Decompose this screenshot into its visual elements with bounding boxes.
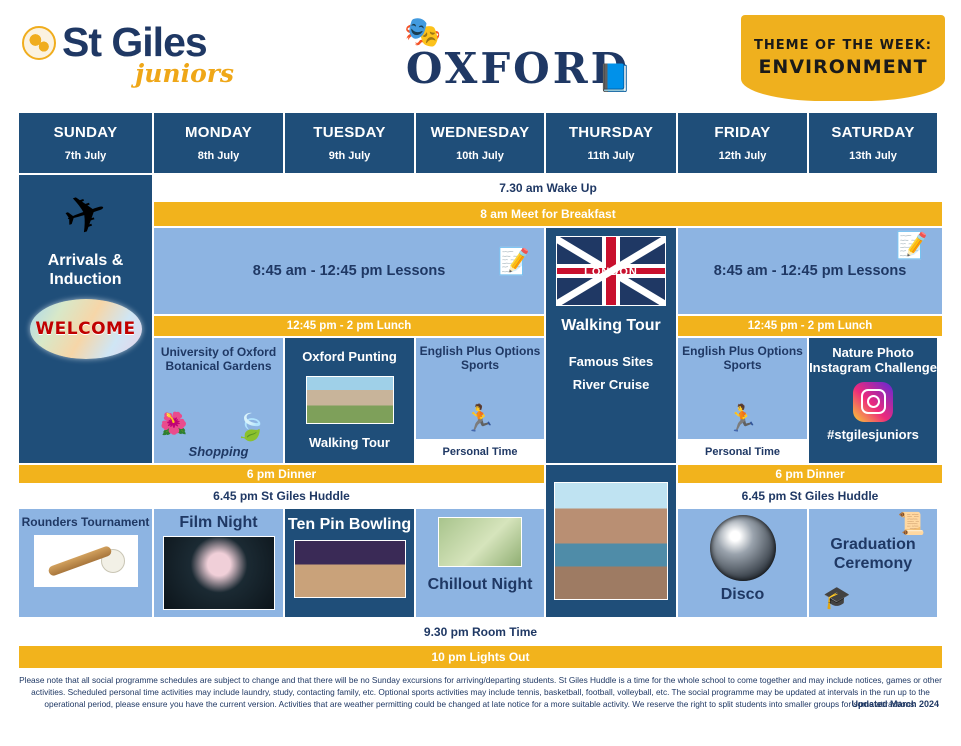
personal-time-friday: Personal Time <box>677 440 808 464</box>
lights-out-row: 10 pm Lights Out <box>18 645 943 669</box>
sunday-title: Arrivals & Induction <box>19 251 152 289</box>
disco-ball-icon <box>710 515 776 581</box>
union-jack-icon: LONDON <box>556 236 666 306</box>
globe-icon <box>22 26 56 60</box>
activity-footer: Personal Time <box>705 446 780 458</box>
lunch-band-fri-sat: 12:45 pm - 2 pm Lunch <box>677 315 943 337</box>
disclaimer-text: Please note that all social programme sc… <box>18 674 943 710</box>
excursion-detail-2: River Cruise <box>573 378 650 393</box>
evening-cell-saturday[interactable]: 📜 Graduation Ceremony 🎓 <box>808 508 938 618</box>
sunday-arrivals-cell[interactable]: ✈ Arrivals & Induction WELCOME <box>18 174 153 464</box>
activity-title: Disco <box>721 585 765 604</box>
evening-block: 6 pm Dinner 6.45 pm St Giles Huddle Roun… <box>18 464 943 618</box>
activity-title: Chillout Night <box>428 575 533 594</box>
instagram-icon <box>853 382 893 422</box>
wake-up-band: 7.30 am Wake Up <box>153 174 943 201</box>
relaxing-frog-photo <box>438 517 522 567</box>
welcome-label: WELCOME <box>35 319 135 339</box>
activity-title: Oxford Punting <box>302 350 397 365</box>
afternoon-cell-friday[interactable]: English Plus Options Sports 🏃 <box>677 337 808 440</box>
activity-footer: #stgilesjuniors <box>827 428 919 443</box>
dinner-band-left: 6 pm Dinner <box>18 464 545 484</box>
afternoon-cell-wednesday[interactable]: English Plus Options Sports 🏃 <box>415 337 545 440</box>
lunch-label: 12:45 pm - 2 pm Lunch <box>748 320 873 332</box>
brand-name: St Giles <box>62 22 207 63</box>
activity-title: University of Oxford Botanical Gardens <box>154 345 283 374</box>
activity-title: Film Night <box>179 513 257 532</box>
theme-of-the-week-banner: THEME OF THE WEEK: ENVIRONMENT <box>741 15 945 101</box>
huddle-label: 6.45 pm St Giles Huddle <box>742 489 879 503</box>
running-figure-icon: 🏃 <box>416 405 544 431</box>
activity-title: Graduation Ceremony <box>809 535 937 573</box>
day-header-friday: FRIDAY 12th July <box>677 112 808 174</box>
huddle-label: 6.45 pm St Giles Huddle <box>213 489 350 503</box>
theme-label: THEME OF THE WEEK: <box>754 38 932 53</box>
st-giles-juniors-logo: St Giles juniors <box>22 22 242 88</box>
day-name: MONDAY <box>185 124 252 141</box>
day-name: SATURDAY <box>831 124 914 141</box>
afternoon-cell-saturday[interactable]: Nature Photo Instagram Challenge #stgile… <box>808 337 938 464</box>
lessons-cell-mon-wed[interactable]: 8:45 am - 12:45 pm Lessons 📝 <box>153 227 545 315</box>
lunch-band-mon-wed: 12:45 pm - 2 pm Lunch <box>153 315 545 337</box>
flowers-icon: 🌺 <box>160 411 187 437</box>
lessons-label: 8:45 am - 12:45 pm Lessons <box>714 263 907 279</box>
timetable-grid: SUNDAY 7th July MONDAY 8th July TUESDAY … <box>18 112 943 669</box>
bowling-alley-photo <box>294 540 406 598</box>
oxford-centre-logo: 🎭 OXFORD 📘 <box>398 18 638 90</box>
notepad-pencil-icon: 📝 <box>896 232 928 258</box>
room-time-row: 9.30 pm Room Time <box>18 618 943 645</box>
theme-value: ENVIRONMENT <box>758 56 927 78</box>
lessons-cell-fri-sat[interactable]: 8:45 am - 12:45 pm Lessons 📝 <box>677 227 943 315</box>
notepad-pencil-icon: 📝 <box>498 248 530 274</box>
leaf-icon: 🍃 <box>235 412 267 443</box>
day-name: FRIDAY <box>714 124 770 141</box>
outdoor-cinema-photo <box>163 536 275 610</box>
day-header-thursday: THURSDAY 11th July <box>545 112 677 174</box>
evening-cell-friday[interactable]: Disco <box>677 508 808 618</box>
activity-title: Nature Photo Instagram Challenge <box>809 346 937 376</box>
afternoon-cell-tuesday[interactable]: Oxford Punting Walking Tour <box>284 337 415 464</box>
day-date: 8th July <box>198 150 240 162</box>
wake-up-label: 7.30 am Wake Up <box>499 181 597 195</box>
evening-cell-wednesday[interactable]: Chillout Night <box>415 508 545 618</box>
dinner-band-right: 6 pm Dinner <box>677 464 943 484</box>
day-header-monday: MONDAY 8th July <box>153 112 284 174</box>
evening-cell-monday[interactable]: Film Night <box>153 508 284 618</box>
flag-label: LONDON <box>557 266 665 278</box>
dinner-label: 6 pm Dinner <box>247 467 316 481</box>
activity-footer: Shopping <box>154 444 283 459</box>
day-date: 7th July <box>65 150 107 162</box>
excursion-title: Walking Tour <box>561 316 661 335</box>
activity-title: English Plus Options Sports <box>678 344 807 373</box>
huddle-band-right: 6.45 pm St Giles Huddle <box>677 484 943 508</box>
running-figure-icon: 🏃 <box>678 405 807 431</box>
dinner-label: 6 pm Dinner <box>775 467 844 481</box>
personal-time-wednesday: Personal Time <box>415 440 545 464</box>
evening-cell-thursday[interactable] <box>545 464 677 618</box>
day-name: THURSDAY <box>569 124 653 141</box>
page-header: St Giles juniors 🎭 OXFORD 📘 THEME OF THE… <box>0 0 961 112</box>
oxford-skyline-photo <box>306 376 394 424</box>
day-header-sunday: SUNDAY 7th July <box>18 112 153 174</box>
activity-footer: Personal Time <box>443 446 518 458</box>
day-header-row: SUNDAY 7th July MONDAY 8th July TUESDAY … <box>18 112 943 174</box>
lessons-label: 8:45 am - 12:45 pm Lessons <box>253 263 446 279</box>
day-date: 13th July <box>849 150 897 162</box>
books-icon: 📘 <box>598 62 632 94</box>
excursion-detail-1: Famous Sites <box>569 355 654 370</box>
lunch-label: 12:45 pm - 2 pm Lunch <box>287 320 412 332</box>
activity-footer: Walking Tour <box>309 436 390 451</box>
welcome-image: WELCOME <box>30 299 142 359</box>
lights-out-band: 10 pm Lights Out <box>18 645 943 669</box>
day-header-tuesday: TUESDAY 9th July <box>284 112 415 174</box>
diploma-scroll-icon: 📜 <box>898 513 937 535</box>
activity-title: Rounders Tournament <box>22 515 150 529</box>
huddle-band-left: 6.45 pm St Giles Huddle <box>18 484 545 508</box>
activity-title: English Plus Options Sports <box>416 344 544 373</box>
breakfast-band: 8 am Meet for Breakfast <box>153 201 943 227</box>
day-date: 12th July <box>719 150 767 162</box>
schedule-body-row: ✈ Arrivals & Induction WELCOME 7.30 am W… <box>18 174 943 464</box>
thursday-excursion-cell[interactable]: LONDON Walking Tour Famous Sites River C… <box>545 227 677 464</box>
day-date: 10th July <box>456 150 504 162</box>
evening-cell-tuesday[interactable]: Ten Pin Bowling <box>284 508 415 618</box>
activity-title: Ten Pin Bowling <box>288 515 411 534</box>
graduation-cap-icon: 🎓 <box>823 587 850 609</box>
day-name: TUESDAY <box>313 124 385 141</box>
day-header-wednesday: WEDNESDAY 10th July <box>415 112 545 174</box>
rounders-bat-ball-icon <box>34 535 138 587</box>
afternoon-cell-monday[interactable]: University of Oxford Botanical Gardens 🌺… <box>153 337 284 464</box>
day-header-saturday: SATURDAY 13th July <box>808 112 938 174</box>
breakfast-label: 8 am Meet for Breakfast <box>480 207 615 221</box>
day-name: SUNDAY <box>54 124 118 141</box>
lights-out-label: 10 pm Lights Out <box>431 650 529 664</box>
london-aerial-photo <box>554 482 668 600</box>
room-time-band: 9.30 pm Room Time <box>18 618 943 645</box>
day-date: 11th July <box>587 150 634 162</box>
evening-cell-sunday[interactable]: Rounders Tournament <box>18 508 153 618</box>
day-date: 9th July <box>329 150 371 162</box>
room-time-label: 9.30 pm Room Time <box>424 625 537 639</box>
airplane-icon: ✈ <box>57 184 115 247</box>
day-name: WEDNESDAY <box>431 124 530 141</box>
